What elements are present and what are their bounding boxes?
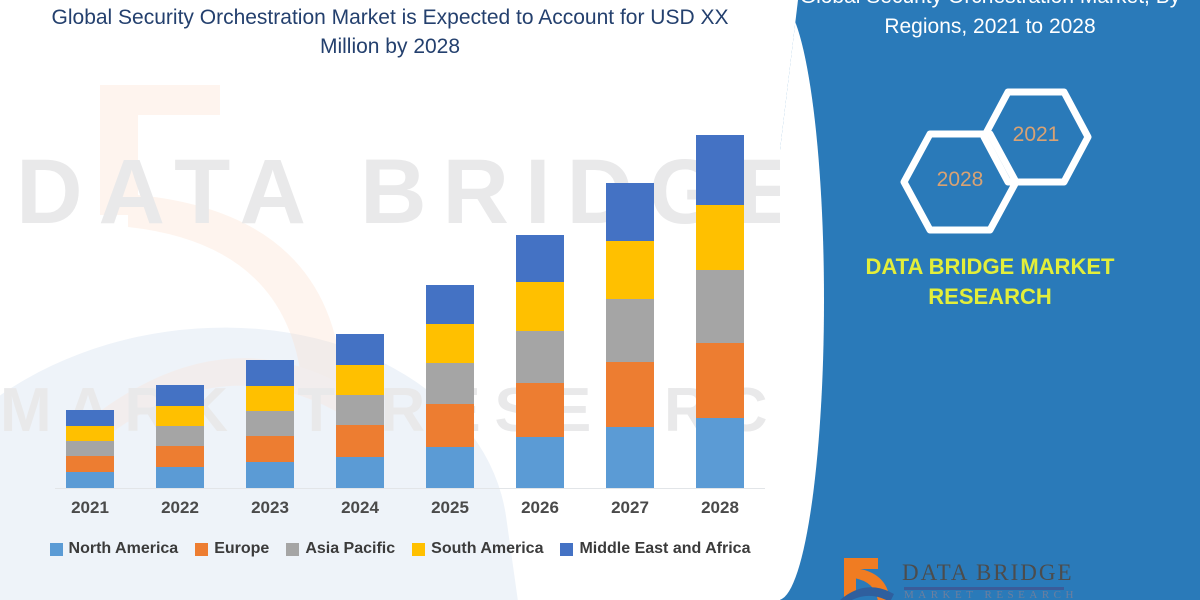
data-bridge-mark-icon — [840, 556, 896, 600]
x-axis-label-2028: 2028 — [675, 498, 765, 518]
bar-segment[interactable] — [336, 457, 384, 488]
bar-segment[interactable] — [696, 135, 744, 205]
bar-2022[interactable] — [156, 385, 204, 488]
logo-tagline: MARKET RESEARCH — [904, 589, 1078, 600]
legend-swatch-icon — [412, 543, 425, 556]
x-axis-label-2021: 2021 — [45, 498, 135, 518]
legend-label: Asia Pacific — [305, 540, 395, 558]
bar-segment[interactable] — [246, 462, 294, 488]
chart-panel: DATA BRIDGE MARKET RESEARCH Global Secur… — [0, 0, 830, 600]
x-axis-label-2024: 2024 — [315, 498, 405, 518]
bar-segment[interactable] — [426, 324, 474, 363]
legend-item[interactable]: North America — [50, 540, 179, 558]
bar-segment[interactable] — [66, 410, 114, 426]
bar-segment[interactable] — [516, 383, 564, 437]
brand-panel: Global Security Orchestration Market, By… — [780, 0, 1200, 600]
bar-segment[interactable] — [426, 447, 474, 488]
bar-segment[interactable] — [516, 331, 564, 383]
bar-2027[interactable] — [606, 183, 654, 488]
x-axis-label-2025: 2025 — [405, 498, 495, 518]
bar-segment[interactable] — [336, 365, 384, 395]
bar-segment[interactable] — [336, 334, 384, 365]
legend-item[interactable]: Middle East and Africa — [560, 540, 750, 558]
infographic-root: DATA BRIDGE MARKET RESEARCH Global Secur… — [0, 0, 1200, 600]
bar-segment[interactable] — [156, 467, 204, 488]
bar-segment[interactable] — [606, 362, 654, 427]
bar-segment[interactable] — [246, 386, 294, 411]
bar-2026[interactable] — [516, 235, 564, 488]
brand-name-line-2: RESEARCH — [790, 282, 1190, 312]
legend-label: Middle East and Africa — [579, 540, 750, 558]
hexagon-2021: 2021 — [980, 88, 1092, 191]
bar-segment[interactable] — [606, 427, 654, 488]
bar-segment[interactable] — [336, 425, 384, 457]
bar-segment[interactable] — [156, 385, 204, 406]
brand-name-line-1: DATA BRIDGE MARKET — [790, 252, 1190, 282]
brand-panel-title: Global Security Orchestration Market, By… — [792, 0, 1188, 42]
bar-segment[interactable] — [156, 426, 204, 446]
bar-segment[interactable] — [156, 406, 204, 426]
bar-segment[interactable] — [606, 183, 654, 241]
hexagon-2021-label: 2021 — [980, 123, 1092, 147]
hexagon-group: 2028 2021 — [780, 88, 1200, 233]
legend-item[interactable]: South America — [412, 540, 543, 558]
legend-item[interactable]: Europe — [195, 540, 269, 558]
bar-2028[interactable] — [696, 135, 744, 488]
legend-label: South America — [431, 540, 543, 558]
bar-segment[interactable] — [426, 285, 474, 324]
bar-2024[interactable] — [336, 334, 384, 488]
legend-swatch-icon — [50, 543, 63, 556]
x-axis-line — [55, 488, 765, 489]
bar-segment[interactable] — [66, 441, 114, 456]
bar-segment[interactable] — [696, 343, 744, 418]
bar-segment[interactable] — [606, 241, 654, 299]
stacked-bar-chart: 20212022202320242025202620272028 — [0, 0, 830, 600]
bar-segment[interactable] — [246, 411, 294, 436]
bar-segment[interactable] — [426, 363, 474, 404]
bar-2025[interactable] — [426, 285, 474, 488]
bar-segment[interactable] — [66, 472, 114, 488]
bar-segment[interactable] — [246, 360, 294, 386]
legend-item[interactable]: Asia Pacific — [286, 540, 395, 558]
bar-segment[interactable] — [246, 436, 294, 462]
x-axis-label-2023: 2023 — [225, 498, 315, 518]
legend-label: North America — [69, 540, 179, 558]
brand-name: DATA BRIDGE MARKET RESEARCH — [790, 252, 1190, 311]
bar-segment[interactable] — [696, 205, 744, 270]
data-bridge-logo: DATA BRIDGE MARKET RESEARCH — [840, 556, 1170, 600]
bar-2023[interactable] — [246, 360, 294, 488]
bar-segment[interactable] — [156, 446, 204, 467]
x-axis-label-2027: 2027 — [585, 498, 675, 518]
x-axis-label-2026: 2026 — [495, 498, 585, 518]
bar-segment[interactable] — [516, 235, 564, 282]
bar-segment[interactable] — [606, 299, 654, 362]
x-axis-label-2022: 2022 — [135, 498, 225, 518]
chart-legend: North AmericaEuropeAsia PacificSouth Ame… — [0, 540, 800, 558]
legend-swatch-icon — [195, 543, 208, 556]
bar-segment[interactable] — [66, 426, 114, 441]
bar-segment[interactable] — [516, 282, 564, 331]
legend-swatch-icon — [560, 543, 573, 556]
bar-segment[interactable] — [696, 270, 744, 343]
bar-segment[interactable] — [696, 418, 744, 488]
logo-name: DATA BRIDGE — [902, 560, 1074, 586]
bar-segment[interactable] — [426, 404, 474, 447]
bar-segment[interactable] — [336, 395, 384, 425]
bar-2021[interactable] — [66, 410, 114, 488]
bar-segment[interactable] — [66, 456, 114, 472]
legend-swatch-icon — [286, 543, 299, 556]
legend-label: Europe — [214, 540, 269, 558]
bar-segment[interactable] — [516, 437, 564, 488]
